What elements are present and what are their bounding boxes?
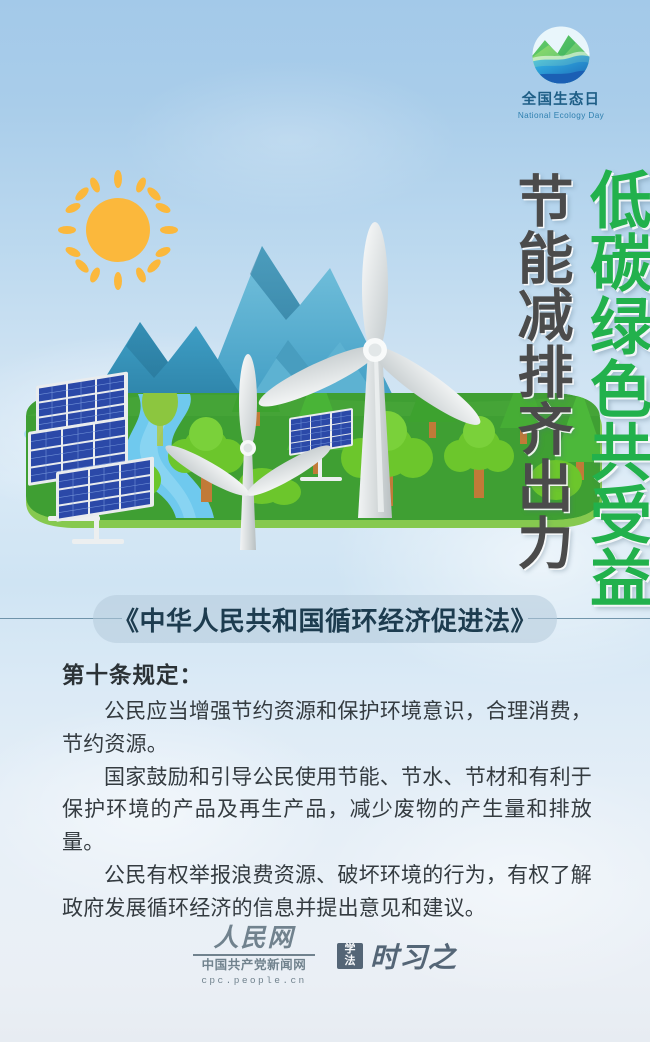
logo-underline (193, 954, 315, 956)
people-daily-subtitle: 中国共产党新闻网 (193, 958, 315, 974)
study-law-badge: 学 法 (337, 943, 363, 969)
article-heading: 第十条规定： (62, 658, 592, 690)
people-daily-logo: 人民网 中国共产党新闻网 cpc.people.cn (193, 926, 315, 985)
law-title-pill: 《中华人民共和国循环经济促进法》 (93, 595, 557, 643)
xixi-wordmark: 时习之 (370, 936, 457, 976)
people-daily-url: cpc.people.cn (193, 975, 315, 986)
sun-icon (58, 170, 178, 290)
article-paragraph: 公民有权举报浪费资源、破坏环境的行为，有权了解政府发展循环经济的信息并提出意见和… (62, 860, 592, 926)
article-paragraph: 公民应当增强节约资源和保护环境意识，合理消费，节约资源。 (62, 696, 592, 762)
national-ecology-day-logo: 全国生态日 National Ecology Day (505, 24, 617, 120)
law-title-text: 《中华人民共和国循环经济促进法》 (113, 601, 537, 638)
badge-bottom-char: 法 (344, 956, 355, 968)
article-paragraph: 国家鼓励和引导公民使用节能、节水、节材和有利于保护环境的产品及再生产品，减少废物… (62, 762, 592, 860)
mountain-water-emblem-icon (530, 24, 592, 86)
footer-logos: 人民网 中国共产党新闻网 cpc.people.cn 学 法 时习之 (0, 925, 650, 987)
xixi-logo: 学 法 时习之 (337, 936, 457, 976)
headline-gray: 节能减排齐出力 (513, 172, 568, 571)
poster-canvas: 全国生态日 National Ecology Day (0, 0, 650, 1042)
headline-green: 低碳绿色共受益 (583, 168, 644, 609)
law-title-band: 《中华人民共和国循环经济促进法》 (0, 595, 650, 643)
logo-name-cn: 全国生态日 (505, 93, 617, 109)
people-daily-brand: 人民网 (193, 926, 315, 951)
logo-name-en: National Ecology Day (505, 111, 617, 120)
article-block: 第十条规定： 公民应当增强节约资源和保护环境意识，合理消费，节约资源。 国家鼓励… (62, 658, 592, 925)
